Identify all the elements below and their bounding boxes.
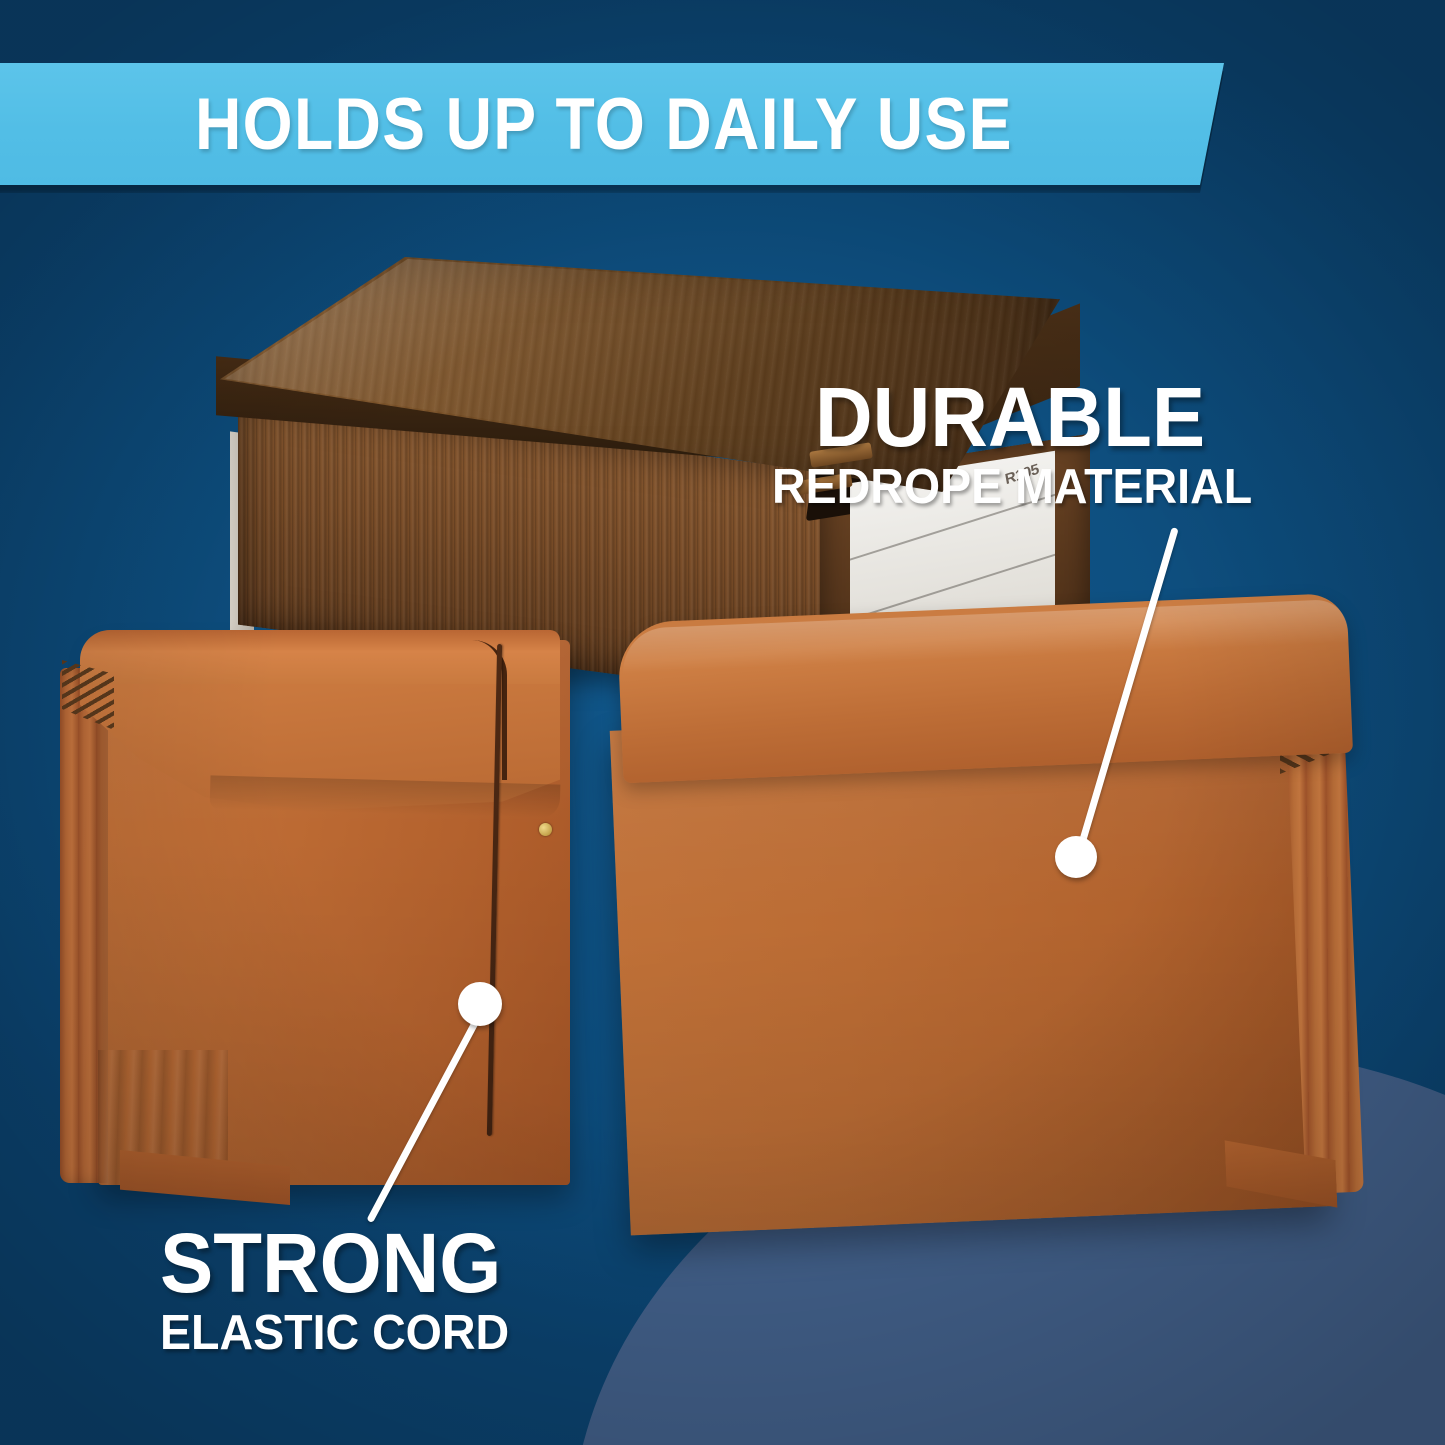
expanding-file-pocket-with-elastic-cord [60, 630, 570, 1195]
headline-banner: HOLDS UP TO DAILY USE [0, 63, 1235, 185]
strong-callout-dot-icon [458, 982, 502, 1026]
durable-callout-title: DURABLE [815, 369, 1205, 466]
durable-callout-subtitle: REDROPE MATERIAL [772, 459, 1252, 515]
strong-callout-title: STRONG [160, 1215, 501, 1312]
banner-shape: HOLDS UP TO DAILY USE [0, 63, 1235, 185]
product-feature-image: R105 HOLDS [0, 0, 1445, 1445]
right-folder-body-shading [610, 702, 1331, 1236]
durable-callout-dot-icon [1055, 836, 1097, 878]
cord-eyelet [539, 823, 552, 836]
strong-callout-subtitle: ELASTIC CORD [160, 1305, 509, 1361]
banner-headline-text: HOLDS UP TO DAILY USE [195, 83, 1030, 166]
expanding-file-pocket-open [608, 608, 1350, 1223]
